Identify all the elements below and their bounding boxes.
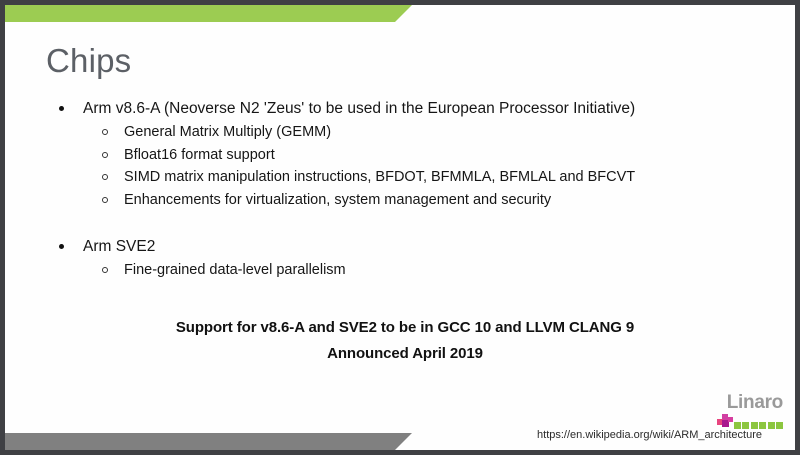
list-item: SIMD matrix manipulation instructions, B… <box>83 166 800 189</box>
list-item: Arm SVE2 Fine-grained data-level paralle… <box>5 235 800 282</box>
linaro-squares-icon <box>734 422 784 429</box>
list-item-label: Enhancements for virtualization, system … <box>124 192 551 208</box>
list-item-label: Arm SVE2 <box>83 238 155 255</box>
emphasis-line-2: Announced April 2019 <box>5 341 800 367</box>
circle-bullet-icon <box>102 152 108 158</box>
list-item-label: Arm v8.6-A (Neoverse N2 'Zeus' to be use… <box>83 100 635 117</box>
linaro-wordmark: Linaro <box>727 392 783 413</box>
logo-square <box>759 422 766 429</box>
logo-cross-block <box>728 417 733 422</box>
linaro-logo: Linaro <box>717 392 783 430</box>
emphasis-line-1: Support for v8.6-A and SVE2 to be in GCC… <box>5 315 800 341</box>
circle-bullet-icon <box>102 197 108 203</box>
slide-canvas: Chips Arm v8.6-A (Neoverse N2 'Zeus' to … <box>0 0 800 455</box>
list-item: Bfloat16 format support <box>83 144 800 167</box>
source-url: https://en.wikipedia.org/wiki/ARM_archit… <box>537 429 762 441</box>
page-title: Chips <box>46 44 131 77</box>
disc-bullet-icon <box>59 106 64 111</box>
bullet-list-level2: Fine-grained data-level parallelism <box>83 259 800 282</box>
list-spacer <box>5 213 800 235</box>
list-item-label: SIMD matrix manipulation instructions, B… <box>124 169 635 185</box>
circle-bullet-icon <box>102 129 108 135</box>
circle-bullet-icon <box>102 174 108 180</box>
bullet-list-level1: Arm v8.6-A (Neoverse N2 'Zeus' to be use… <box>5 97 800 282</box>
top-accent-bar <box>5 5 412 22</box>
logo-square <box>751 422 758 429</box>
logo-square <box>742 422 749 429</box>
logo-square <box>768 422 775 429</box>
list-item: General Matrix Multiply (GEMM) <box>83 121 800 144</box>
emphasis-block: Support for v8.6-A and SVE2 to be in GCC… <box>5 315 800 367</box>
bullet-list-level2: General Matrix Multiply (GEMM) Bfloat16 … <box>83 121 800 211</box>
list-item-label: Bfloat16 format support <box>124 147 275 163</box>
linaro-cross-icon <box>717 414 732 430</box>
list-item: Arm v8.6-A (Neoverse N2 'Zeus' to be use… <box>5 97 800 211</box>
bullet-content: Arm v8.6-A (Neoverse N2 'Zeus' to be use… <box>5 97 800 284</box>
logo-square <box>776 422 783 429</box>
list-item: Fine-grained data-level parallelism <box>83 259 800 282</box>
list-item: Enhancements for virtualization, system … <box>83 189 800 212</box>
list-item-label: Fine-grained data-level parallelism <box>124 262 346 278</box>
disc-bullet-icon <box>59 244 64 249</box>
bottom-accent-bar <box>5 433 412 450</box>
circle-bullet-icon <box>102 267 108 273</box>
list-item-label: General Matrix Multiply (GEMM) <box>124 124 331 140</box>
logo-square <box>734 422 741 429</box>
